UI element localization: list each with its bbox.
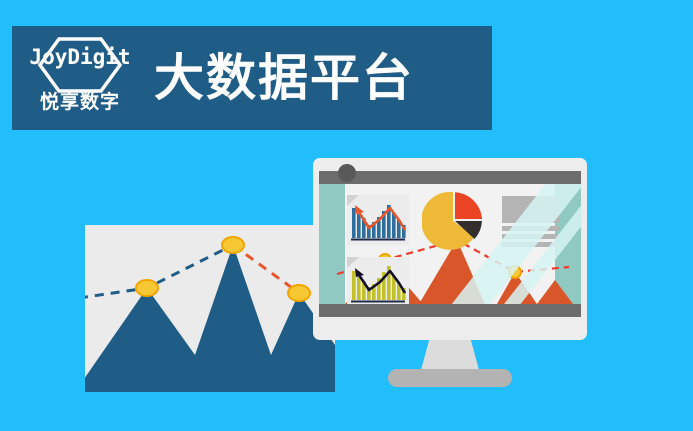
trend-line-rising: [85, 245, 233, 298]
monitor-screen: [319, 184, 581, 304]
trend-arrow-icon: [355, 205, 364, 214]
brand-wordmark: JoyDigit: [24, 47, 136, 68]
monitor: [313, 158, 587, 340]
olive-bar-chart-svg: [347, 257, 409, 304]
card-folded-corner: [347, 257, 359, 268]
monitor-bezel-bottom: [319, 304, 581, 317]
card-folded-corner: [347, 195, 359, 206]
pie-chart-svg: [422, 190, 484, 252]
trend-arrow-icon: [355, 268, 364, 277]
text-block-line: [502, 234, 560, 239]
monitor-stand-base: [388, 369, 512, 387]
monitor-bezel-top: [319, 171, 581, 184]
header-bar: JoyDigit 悦享数字 大数据平台: [12, 26, 492, 130]
screen-text-block: [502, 196, 560, 247]
brand-subtext: 悦享数字: [24, 93, 136, 112]
text-block-line: [502, 242, 560, 247]
text-block-heading: [502, 196, 560, 223]
banner-canvas: JoyDigit 悦享数字 大数据平台: [0, 0, 693, 431]
bar-chart-baseline: [351, 301, 405, 303]
pie-slice-b: [455, 192, 482, 219]
monitor-stand-neck: [421, 340, 479, 370]
screen-bar-chart-olive: [347, 257, 409, 304]
brand-logo: JoyDigit 悦享数字: [24, 35, 136, 121]
blue-bar-chart-svg: [347, 195, 409, 245]
text-block-line: [502, 226, 560, 231]
screen-bar-chart-blue: [347, 195, 409, 245]
bar-chart-baseline: [351, 239, 405, 241]
screen-pie-chart: [422, 190, 484, 252]
monitor-power-button[interactable]: [338, 164, 356, 182]
mountain-shape: [85, 245, 335, 392]
left-mountain-panel: [85, 225, 335, 392]
left-area-chart: [85, 225, 335, 392]
page-title: 大数据平台: [154, 53, 414, 103]
